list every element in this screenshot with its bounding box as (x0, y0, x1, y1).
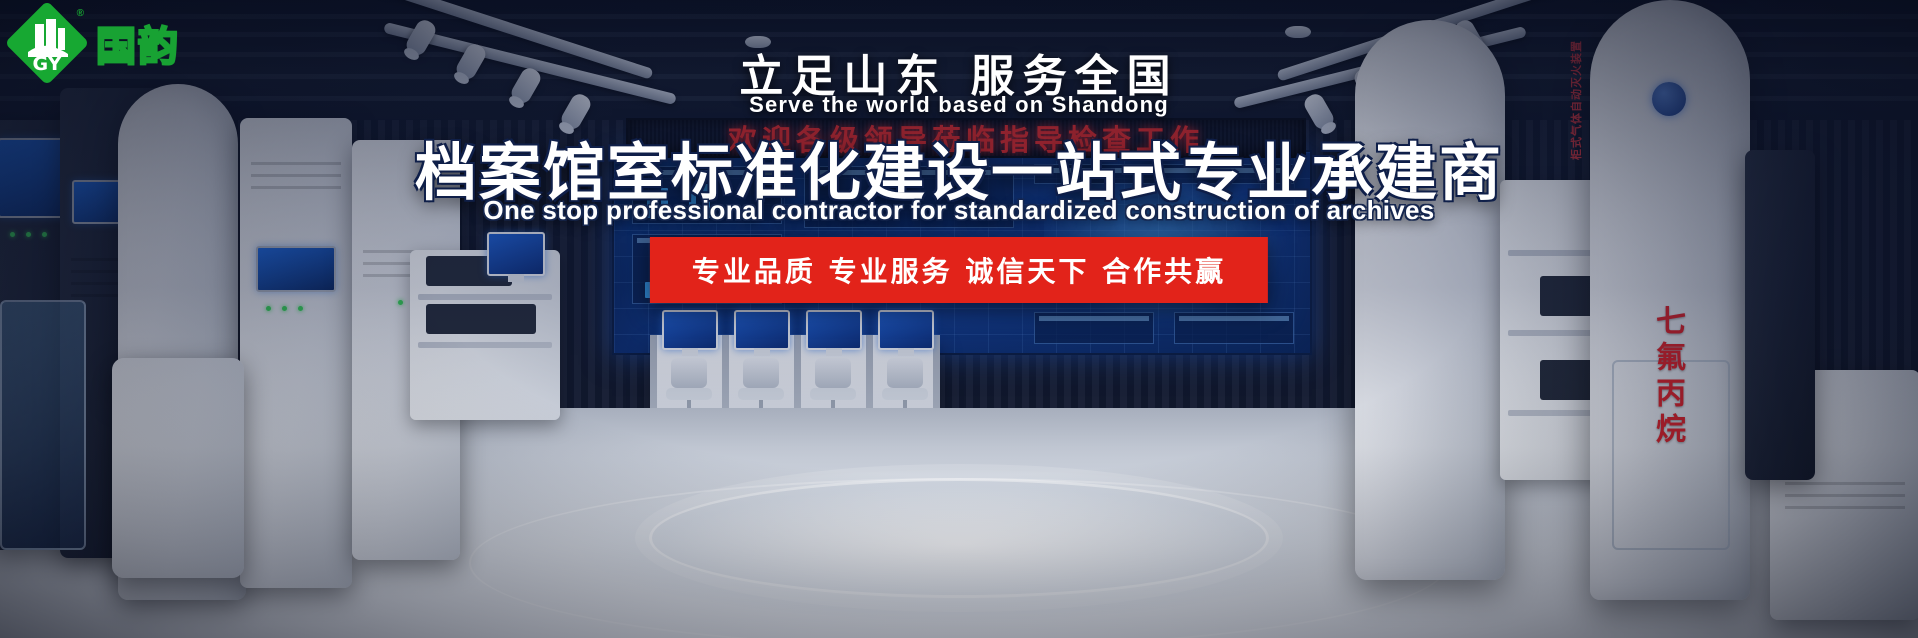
wall-monitor-left (487, 232, 545, 276)
floor-ring-outer (469, 478, 1449, 638)
mobile-dehumidifier (112, 358, 244, 578)
slogan-banner[interactable]: 专业品质 专业服务 诚信天下 合作共赢 (650, 237, 1268, 303)
subtitle-english: One stop professional contractor for sta… (0, 195, 1918, 226)
left-glass-panel (0, 300, 86, 550)
desk-monitor (806, 310, 862, 350)
desk-monitor (734, 310, 790, 350)
smoke-detector (1285, 26, 1311, 38)
desk-monitor (878, 310, 934, 350)
registered-trademark-icon: ® (77, 8, 84, 19)
banner-root: 欢迎各级领导莅临指导检查工作 (0, 0, 1918, 638)
heptafluoropropane-label: 七氟丙烷 (1645, 305, 1689, 449)
desk-monitor (662, 310, 718, 350)
headline-english: Serve the world based on Shandong (0, 92, 1918, 118)
